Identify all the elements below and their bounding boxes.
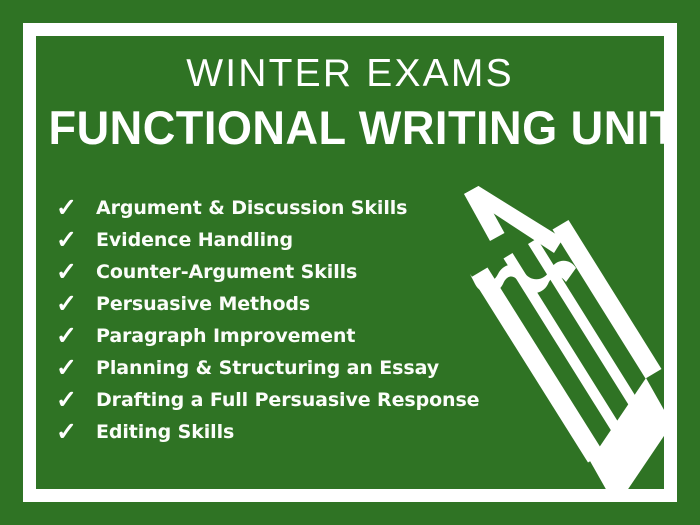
pencil-illustration — [440, 170, 670, 490]
checklist-item-label: Persuasive Methods — [96, 288, 310, 320]
title-block: WINTER EXAMS FUNCTIONAL WRITING UNIT — [36, 52, 664, 154]
check-icon: ✓ — [56, 288, 96, 320]
check-icon: ✓ — [56, 320, 96, 352]
check-icon: ✓ — [56, 384, 96, 416]
check-icon: ✓ — [56, 192, 96, 224]
poster-canvas: WINTER EXAMS FUNCTIONAL WRITING UNIT ✓Ar… — [0, 0, 700, 525]
page-title-secondary: FUNCTIONAL WRITING UNIT — [49, 102, 652, 154]
checklist-item-label: Editing Skills — [96, 416, 234, 448]
checklist-item-label: Planning & Structuring an Essay — [96, 352, 439, 384]
checklist-item-label: Drafting a Full Persuasive Response — [96, 384, 479, 416]
pencil-icon — [464, 186, 670, 490]
checklist-item-label: Argument & Discussion Skills — [96, 192, 407, 224]
check-icon: ✓ — [56, 352, 96, 384]
check-icon: ✓ — [56, 256, 96, 288]
check-icon: ✓ — [56, 224, 96, 256]
page-title-primary: WINTER EXAMS — [36, 52, 664, 96]
check-icon: ✓ — [56, 416, 96, 448]
checklist-item-label: Evidence Handling — [96, 224, 293, 256]
checklist-item-label: Paragraph Improvement — [96, 320, 355, 352]
checklist-item-label: Counter-Argument Skills — [96, 256, 357, 288]
